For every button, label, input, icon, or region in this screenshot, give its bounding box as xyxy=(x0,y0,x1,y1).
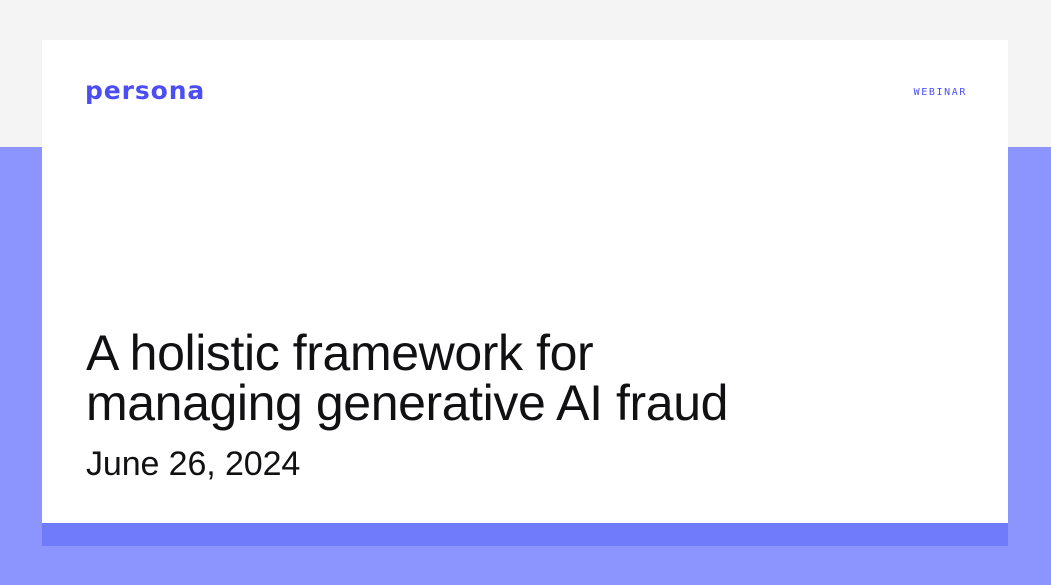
slide-date: June 26, 2024 xyxy=(86,428,966,483)
accent-band xyxy=(42,523,1008,546)
slide-stage: persona WEBINAR A holistic framework for… xyxy=(0,0,1051,585)
webinar-eyebrow-label: WEBINAR xyxy=(914,88,967,98)
title-block: A holistic framework for managing genera… xyxy=(86,328,966,483)
slide-card: persona WEBINAR A holistic framework for… xyxy=(42,40,1008,523)
slide-header: persona WEBINAR xyxy=(42,40,1008,150)
slide-title: A holistic framework for managing genera… xyxy=(86,328,966,428)
persona-logo[interactable]: persona xyxy=(85,78,205,103)
